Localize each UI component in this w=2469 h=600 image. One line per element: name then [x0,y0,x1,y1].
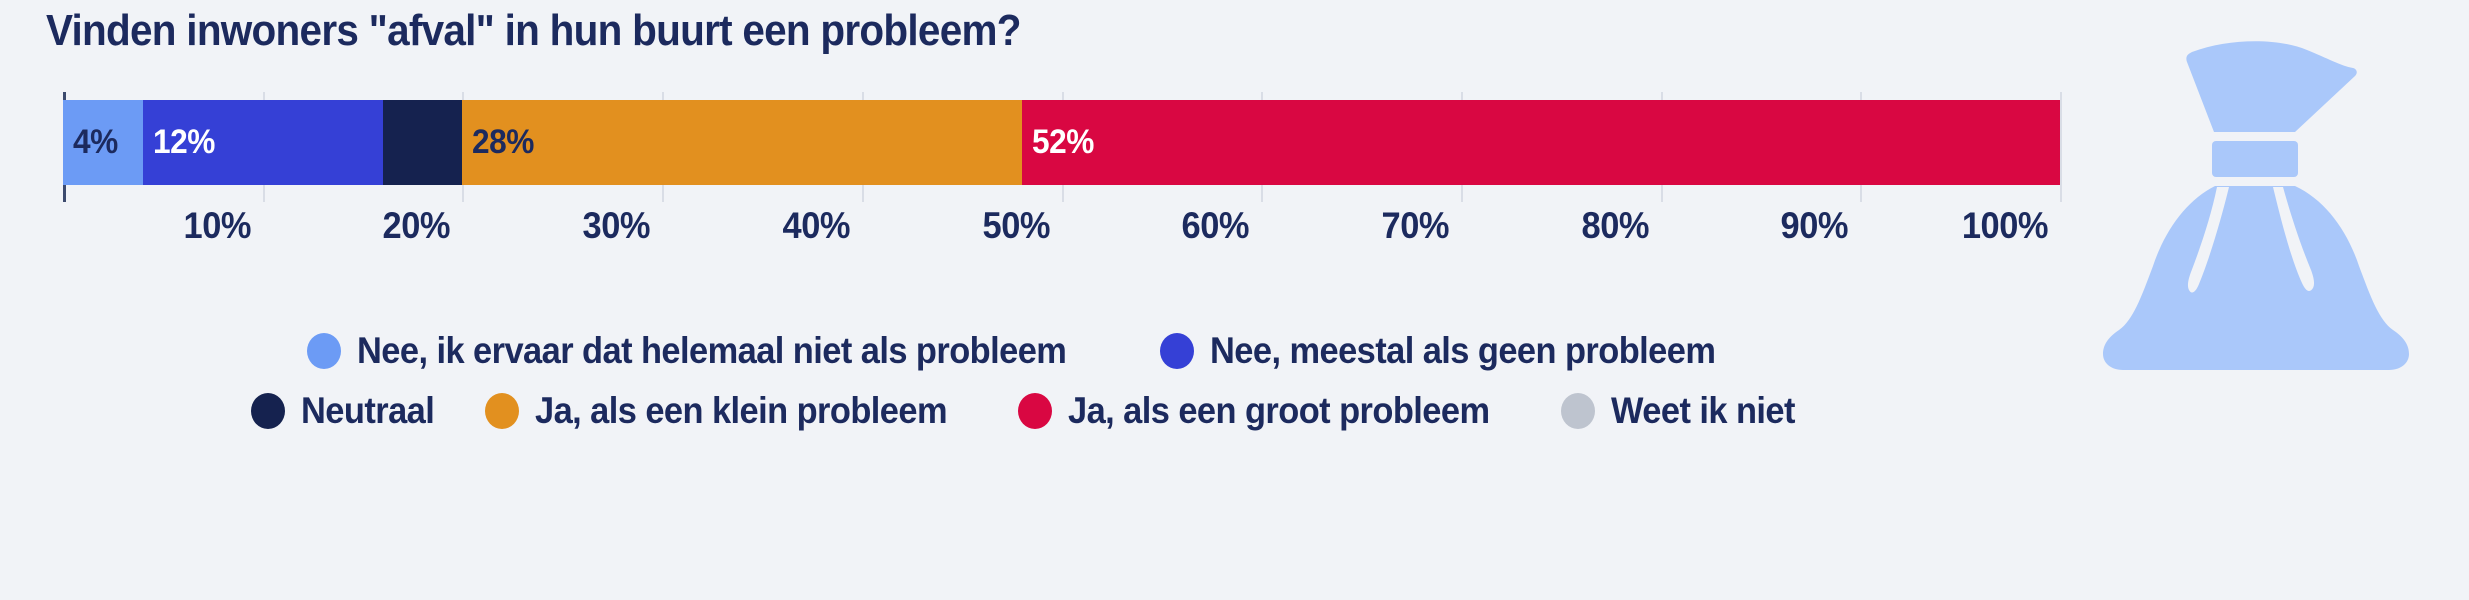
stacked-bar: 4%12%28%52% [63,100,2060,185]
legend-swatch-icon [1160,333,1194,369]
x-axis-tick-label: 70% [1376,205,1461,247]
bar-segment [383,100,463,185]
legend-item[interactable]: Ja, als een klein probleem [485,390,978,432]
legend-item[interactable]: Ja, als een groot probleem [1018,390,1521,432]
x-axis-tick-label: 60% [1177,205,1262,247]
gridline [2060,92,2062,202]
legend-item-label: Ja, als een groot probleem [1068,390,1489,432]
x-axis-tick-label: 10% [178,205,263,247]
legend-item-label: Ja, als een klein probleem [535,390,947,432]
x-axis-tick-labels: 10%20%30%40%50%60%70%80%90%100% [63,205,2060,261]
legend-swatch-icon [485,393,519,429]
bar-segment-label: 12% [153,123,215,162]
x-axis-tick-label: 50% [977,205,1062,247]
chart-legend: Nee, ik ervaar dat helemaal niet als pro… [0,330,2060,450]
legend-row-2: NeutraalJa, als een klein probleemJa, al… [0,390,2060,432]
trash-bag-illustration [2079,40,2449,370]
page-title: Vinden inwoners "afval" in hun buurt een… [46,6,1021,56]
legend-item-label: Neutraal [301,390,434,432]
legend-swatch-icon [1018,393,1052,429]
legend-item-label: Nee, ik ervaar dat helemaal niet als pro… [357,330,1066,372]
x-axis-tick-label: 90% [1776,205,1861,247]
legend-swatch-icon [307,333,341,369]
x-axis-tick-label: 20% [378,205,463,247]
legend-item-label: Nee, meestal als geen probleem [1210,330,1715,372]
x-axis-tick-label: 30% [578,205,663,247]
x-axis-tick-label: 100% [1955,205,2060,247]
chart-container: Vinden inwoners "afval" in hun buurt een… [0,0,2469,600]
bar-segment: 52% [1022,100,2060,185]
legend-item[interactable]: Nee, ik ervaar dat helemaal niet als pro… [307,330,1120,372]
legend-row-1: Nee, ik ervaar dat helemaal niet als pro… [0,330,2060,372]
bar-segment: 4% [63,100,143,185]
legend-item[interactable]: Neutraal [251,390,444,432]
bar-segment: 28% [462,100,1021,185]
legend-item[interactable]: Nee, meestal als geen probleem [1160,330,1753,372]
bar-segment-label: 52% [1032,123,1094,162]
x-axis-tick-label: 80% [1576,205,1661,247]
legend-swatch-icon [251,393,285,429]
bar-segment-label: 28% [472,123,534,162]
x-axis-tick-label: 40% [777,205,862,247]
bar-segment-label: 4% [73,123,118,162]
plot-area: 4%12%28%52% [63,92,2060,202]
legend-item[interactable]: Weet ik niet [1561,390,1809,432]
legend-swatch-icon [1561,393,1595,429]
legend-item-label: Weet ik niet [1611,390,1795,432]
bar-segment: 12% [143,100,383,185]
